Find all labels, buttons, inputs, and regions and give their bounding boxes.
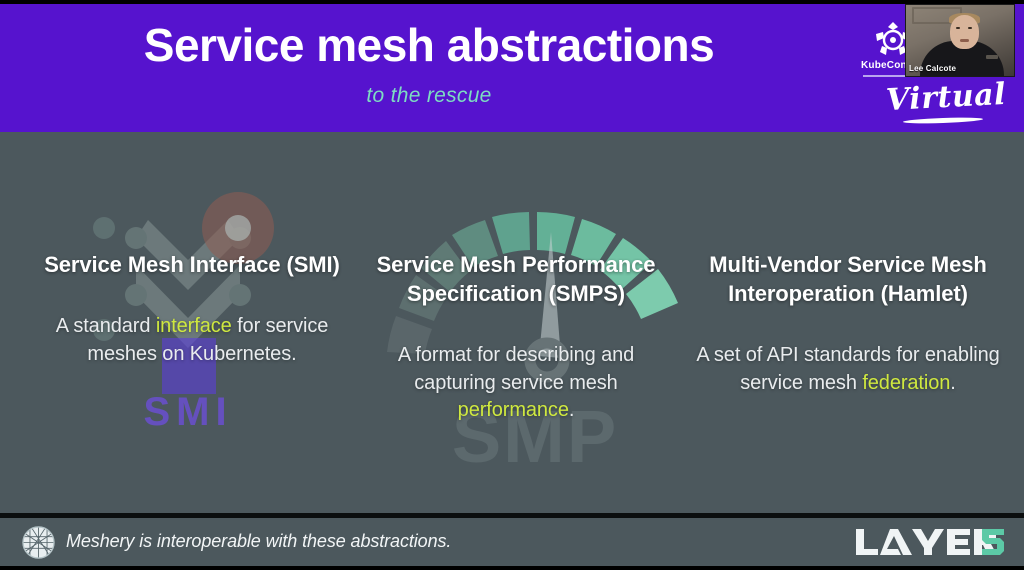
column-smps-body-highlight: performance xyxy=(458,399,569,421)
column-smi: Service Mesh Interface (SMI) A standard … xyxy=(32,250,352,368)
column-hamlet-body-after: . xyxy=(950,372,955,394)
shirt-logo xyxy=(986,55,998,59)
slide-title: Service mesh abstractions xyxy=(0,20,858,71)
virtual-label: Virtual xyxy=(880,77,1012,119)
column-smi-body-before: A standard xyxy=(56,315,156,337)
column-smi-body-highlight: interface xyxy=(156,315,232,337)
column-hamlet-body-highlight: federation xyxy=(862,372,950,394)
slide-subtitle: to the rescue xyxy=(0,84,858,108)
presenter-mouth xyxy=(960,39,969,42)
presenter-video-tile[interactable]: Lee Calcote xyxy=(905,4,1015,77)
column-smi-body: A standard interface for service meshes … xyxy=(32,313,352,368)
column-smps-body-after: . xyxy=(569,399,574,421)
column-smps-body-before: A format for describing and capturing se… xyxy=(398,344,634,394)
slide-header: Service mesh abstractions to the rescue … xyxy=(0,4,1024,132)
column-smps-heading: Service Mesh Performance Specification (… xyxy=(356,250,676,308)
presenter-face xyxy=(950,15,979,49)
layer5-logo xyxy=(854,527,1006,557)
slide-footer: Meshery is interoperable with these abst… xyxy=(0,518,1024,566)
presentation-slide: Service mesh abstractions to the rescue … xyxy=(0,0,1024,570)
meshery-sphere-icon xyxy=(22,526,55,559)
presenter-eye-right xyxy=(968,27,972,29)
column-smps-body: A format for describing and capturing se… xyxy=(356,342,676,425)
presenter-eye-left xyxy=(956,27,960,29)
column-smi-heading: Service Mesh Interface (SMI) xyxy=(32,250,352,279)
bottom-letterbox-bar xyxy=(0,566,1024,570)
virtual-underline-swoosh xyxy=(903,117,983,125)
slide-body: SMI xyxy=(0,132,1024,513)
footer-tagline: Meshery is interoperable with these abst… xyxy=(66,531,451,552)
column-hamlet-heading: Multi-Vendor Service Mesh Interoperation… xyxy=(688,250,1008,308)
column-hamlet-body: A set of API standards for enabling serv… xyxy=(688,342,1008,397)
column-hamlet: Multi-Vendor Service Mesh Interoperation… xyxy=(688,250,1008,397)
presenter-name-label: Lee Calcote xyxy=(909,64,956,73)
abstractions-columns: Service Mesh Interface (SMI) A standard … xyxy=(0,132,1024,513)
column-smps: Service Mesh Performance Specification (… xyxy=(356,250,676,425)
